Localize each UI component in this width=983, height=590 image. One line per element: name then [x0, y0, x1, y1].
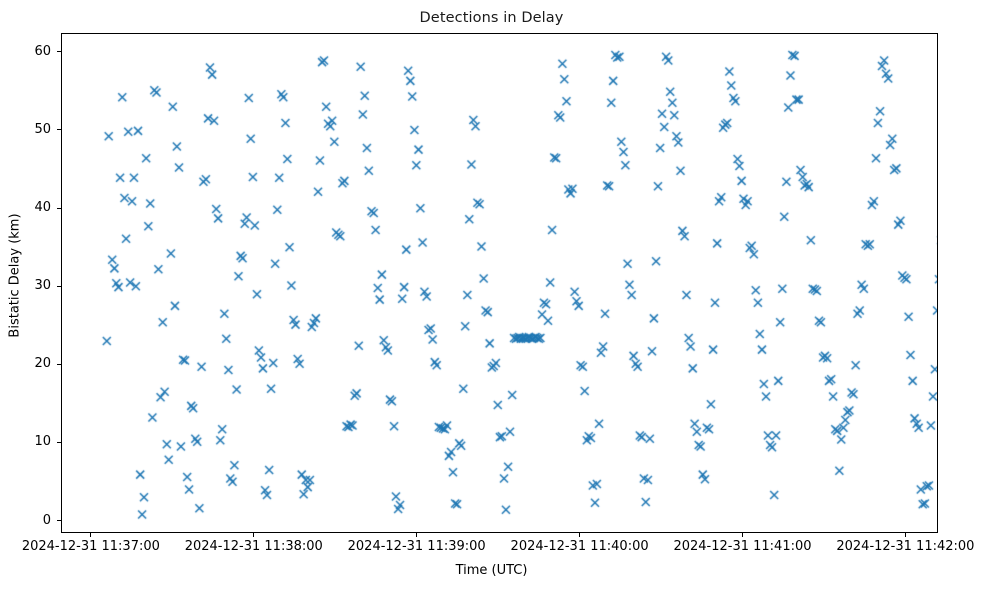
y-tick-mark	[57, 51, 61, 52]
x-axis-label: Time (UTC)	[0, 563, 983, 578]
y-tick-mark	[57, 442, 61, 443]
x-tick-mark	[579, 533, 580, 537]
x-tick-mark	[742, 533, 743, 537]
scatter-series	[62, 34, 938, 533]
x-tick-label: 2024-12-31 11:42:00	[805, 540, 983, 554]
x-tick-mark	[416, 533, 417, 537]
y-tick-mark	[57, 129, 61, 130]
x-tick-mark	[90, 533, 91, 537]
x-tick-mark	[253, 533, 254, 537]
plot-area	[61, 33, 938, 533]
chart-title: Detections in Delay	[0, 10, 983, 26]
y-tick-mark	[57, 208, 61, 209]
y-tick-mark	[57, 364, 61, 365]
x-tick-mark	[905, 533, 906, 537]
y-axis-label: Bistatic Delay (km)	[8, 26, 23, 526]
y-tick-mark	[57, 520, 61, 521]
y-tick-mark	[57, 286, 61, 287]
figure-canvas: Detections in Delay 0 10 20 30 40 50 60 …	[0, 0, 983, 590]
